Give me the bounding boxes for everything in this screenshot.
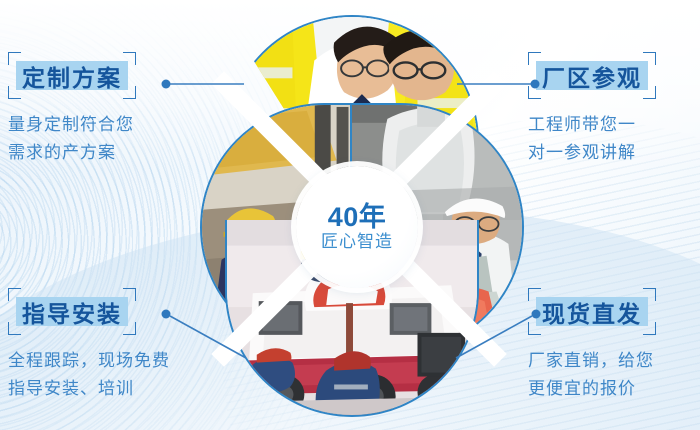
- feature-title: 厂区参观: [534, 65, 650, 91]
- hub-headline: 40年: [328, 204, 387, 231]
- bracket-top-left: [528, 52, 541, 65]
- feature-title-badge: 现货直发: [528, 288, 656, 335]
- bracket-top-right: [123, 52, 136, 65]
- bracket-bottom-right: [643, 322, 656, 335]
- connector-top-left: [160, 72, 246, 96]
- feature-title: 定制方案: [14, 65, 130, 91]
- bracket-bottom-right: [123, 322, 136, 335]
- connector-top-right: [455, 72, 541, 96]
- feature-title: 指导安装: [14, 301, 130, 327]
- feature-description-line: 对一参观讲解: [528, 139, 700, 167]
- feature-custom-plan: 定制方案 量身定制符合您 需求的产方案: [8, 52, 208, 166]
- feature-description-line: 更便宜的报价: [528, 375, 700, 403]
- feature-description-line: 量身定制符合您: [8, 111, 208, 139]
- center-hub: 40年 匠心智造: [296, 166, 418, 288]
- feature-factory-visit: 厂区参观 工程师带您一 对一参观讲解: [528, 52, 700, 166]
- bracket-top-left: [8, 288, 21, 301]
- feature-title: 现货直发: [534, 301, 650, 327]
- bracket-top-right: [643, 288, 656, 301]
- bracket-top-left: [8, 52, 21, 65]
- promo-banner: SINOMA: [0, 0, 700, 430]
- feature-title-badge: 厂区参观: [528, 52, 656, 99]
- bracket-top-right: [643, 52, 656, 65]
- feature-description-line: 指导安装、培训: [8, 375, 208, 403]
- bracket-bottom-left: [8, 86, 21, 99]
- feature-in-stock-shipping: 现货直发 厂家直销，给您 更便宜的报价: [528, 288, 700, 402]
- bracket-bottom-right: [643, 86, 656, 99]
- hub-subline: 匠心智造: [321, 233, 393, 250]
- bracket-top-left: [528, 288, 541, 301]
- bracket-bottom-right: [123, 86, 136, 99]
- feature-description-line: 工程师带您一: [528, 111, 700, 139]
- connector-bottom-left: [160, 306, 250, 362]
- feature-title-badge: 定制方案: [8, 52, 136, 99]
- feature-description: 工程师带您一 对一参观讲解: [528, 111, 700, 166]
- connector-bottom-right: [452, 306, 542, 362]
- feature-description: 量身定制符合您 需求的产方案: [8, 111, 208, 166]
- feature-description-line: 厂家直销，给您: [528, 347, 700, 375]
- feature-description-line: 需求的产方案: [8, 139, 208, 167]
- feature-description: 厂家直销，给您 更便宜的报价: [528, 347, 700, 402]
- feature-title-badge: 指导安装: [8, 288, 136, 335]
- bracket-top-right: [123, 288, 136, 301]
- bracket-bottom-left: [8, 322, 21, 335]
